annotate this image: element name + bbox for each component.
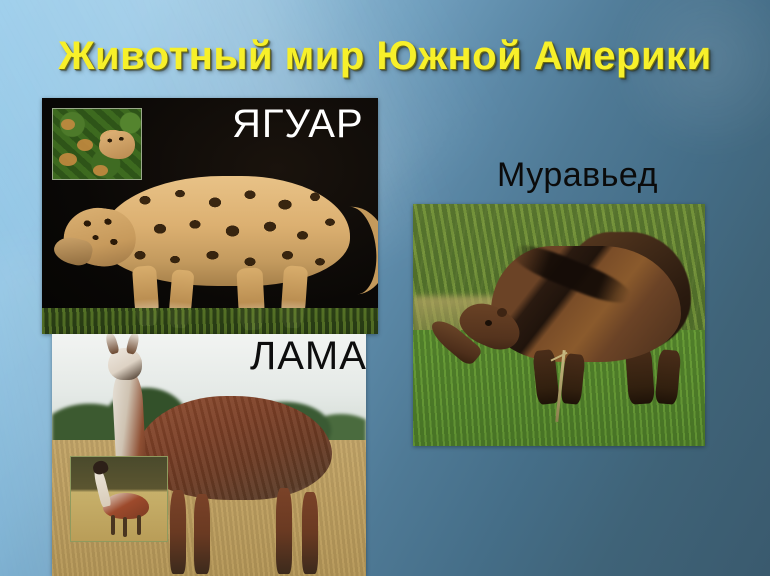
jaguar-ground-grass	[42, 308, 378, 334]
jaguar-label: ЯГУАР	[232, 102, 364, 147]
jaguar-inset-photo	[52, 108, 142, 180]
lama-inset-leg	[123, 517, 127, 537]
lama-leg	[194, 494, 210, 574]
jaguar-inset-foliage-blob	[77, 139, 93, 151]
jaguar-inset-foliage-blob	[93, 165, 108, 176]
lama-inset-leg	[111, 515, 115, 535]
lama-label: ЛАМА	[250, 334, 367, 379]
lama-leg	[170, 490, 186, 574]
slide-title: Животный мир Южной Америки	[0, 34, 770, 79]
lama-inset-leg	[137, 515, 141, 535]
jaguar-inset-foliage-blob	[61, 119, 75, 130]
anteater-label: Муравьед	[497, 156, 658, 195]
anteater-ear	[497, 308, 507, 317]
presentation-slide: Животный мир Южной Америки ЯГУАР	[0, 0, 770, 576]
lama-inset-photo	[70, 456, 168, 542]
jaguar-inset-face	[99, 131, 135, 159]
anteater-eye	[485, 320, 492, 326]
anteater-photo	[413, 204, 705, 446]
lama-inset-body	[103, 493, 149, 519]
lama-leg	[302, 492, 318, 574]
background-glow	[610, 0, 770, 160]
lama-leg	[276, 488, 292, 574]
jaguar-inset-foliage-blob	[59, 153, 77, 166]
